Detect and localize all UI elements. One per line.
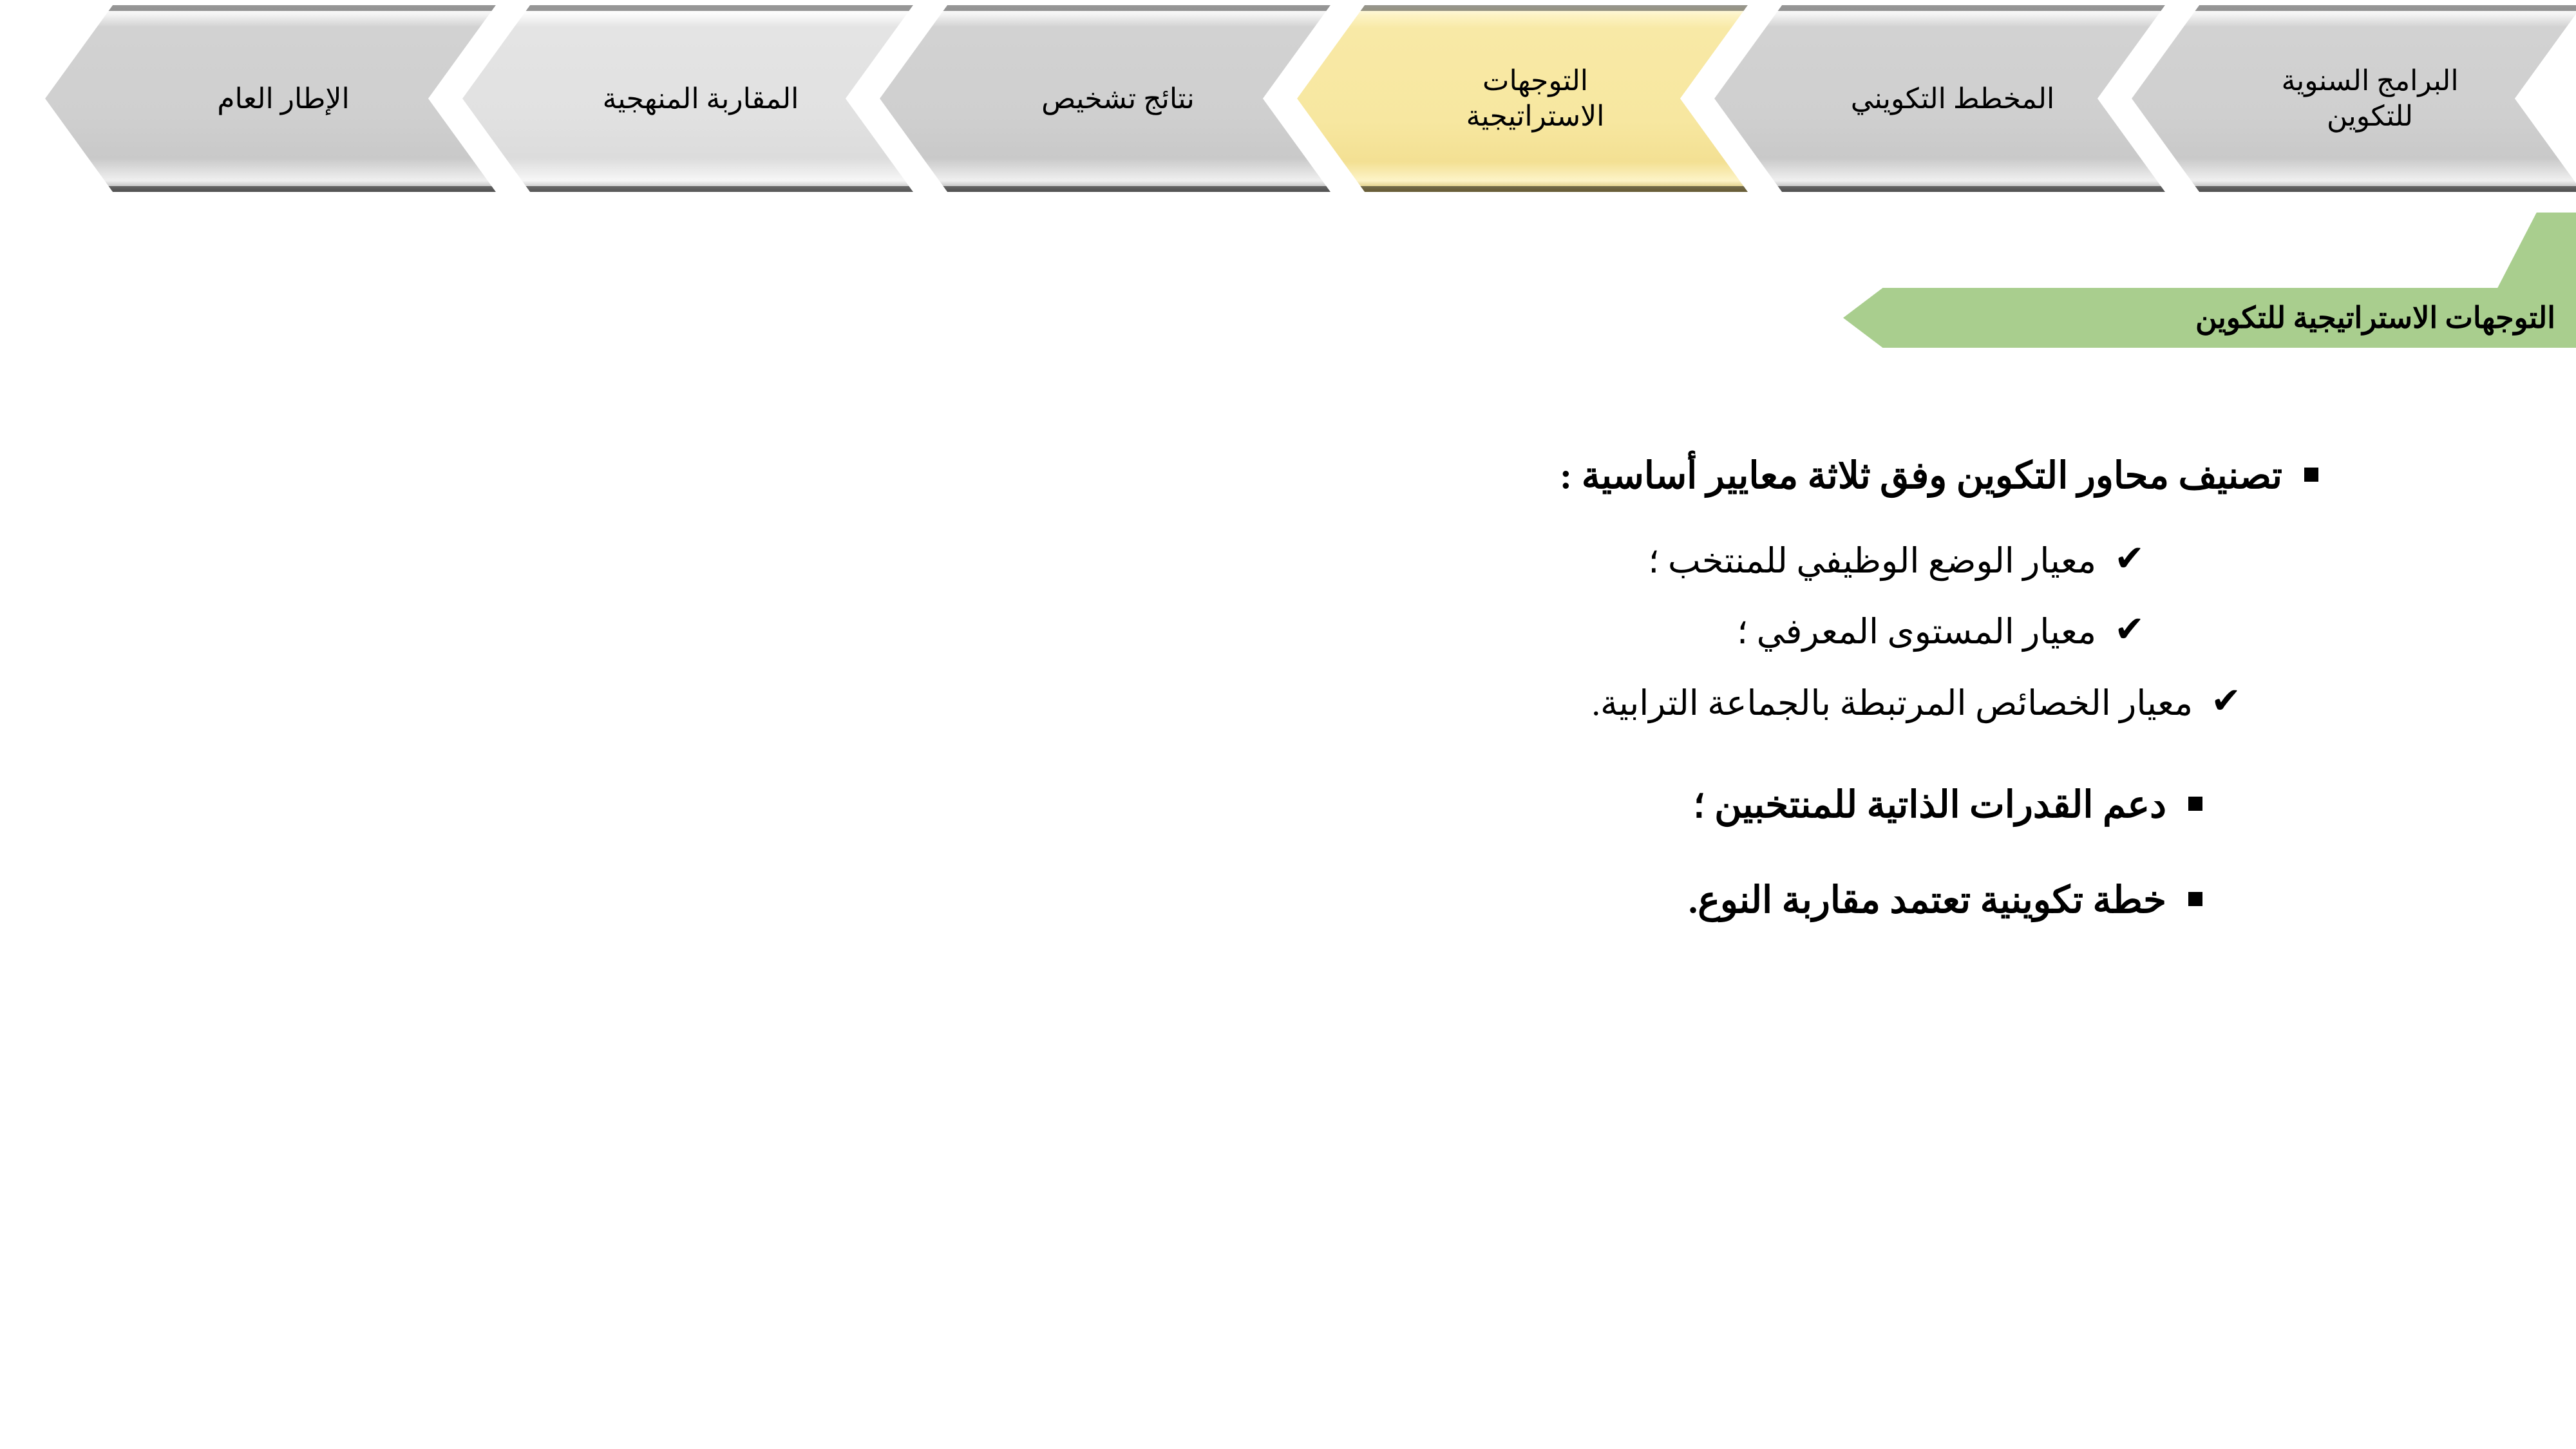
sub-bullet-group: ✔ معيار الوضع الوظيفي للمنتخب ؛ ✔ معيار … bbox=[258, 538, 2318, 726]
bullet-item-2: دعم القدرات الذاتية للمنتخبين ؛ bbox=[258, 780, 2318, 830]
square-bullet-icon bbox=[2188, 892, 2202, 906]
sub-bullet-item-3: ✔ معيار الخصائص المرتبطة بالجماعة التراب… bbox=[258, 681, 2318, 726]
sub-bullet-item-1: ✔ معيار الوضع الوظيفي للمنتخب ؛ bbox=[258, 538, 2318, 583]
spacer bbox=[258, 752, 2318, 780]
spacer bbox=[258, 518, 2318, 528]
chevron-step-1[interactable]: البرامج السنوية للتكوين bbox=[2132, 5, 2576, 192]
check-mark-icon: ✔ bbox=[2114, 541, 2145, 577]
chevron-step-4-label: نتائج تشخيص bbox=[1041, 81, 1195, 117]
ribbon-band: التوجهات الاستراتيجية للتكوين bbox=[1843, 288, 2576, 348]
process-chevron-bar: البرامج السنوية للتكوين المخطط التكويني … bbox=[0, 0, 2576, 206]
bullet-item-2-text: دعم القدرات الذاتية للمنتخبين ؛ bbox=[1693, 780, 2166, 830]
square-bullet-icon bbox=[2188, 797, 2202, 811]
chevron-step-6[interactable]: الإطار العام bbox=[45, 5, 496, 192]
bullet-item-1: تصنيف محاور التكوين وفق ثلاثة معايير أسا… bbox=[258, 451, 2318, 501]
chevron-step-5[interactable]: المقاربة المنهجية bbox=[462, 5, 913, 192]
chevron-step-6-label: الإطار العام bbox=[217, 81, 350, 117]
check-mark-icon: ✔ bbox=[2114, 612, 2145, 648]
chevron-step-3-label: التوجهات الاستراتيجية bbox=[1466, 63, 1605, 134]
slide-canvas: البرامج السنوية للتكوين المخطط التكويني … bbox=[0, 0, 2576, 1449]
check-mark-icon: ✔ bbox=[2211, 683, 2241, 719]
sub-bullet-item-2-text: معيار المستوى المعرفي ؛ bbox=[1737, 609, 2096, 654]
chevron-step-1-label: البرامج السنوية للتكوين bbox=[2281, 63, 2458, 134]
page-title: التوجهات الاستراتيجية للتكوين bbox=[2195, 303, 2555, 333]
chevron-step-5-label: المقاربة المنهجية bbox=[603, 81, 799, 117]
bullet-item-3: خطة تكوينية تعتمد مقاربة النوع. bbox=[258, 875, 2318, 925]
spacer bbox=[258, 847, 2318, 875]
chevron-step-2-label: المخطط التكويني bbox=[1851, 81, 2054, 117]
sub-bullet-item-1-text: معيار الوضع الوظيفي للمنتخب ؛ bbox=[1648, 538, 2096, 583]
chevron-step-3-active[interactable]: التوجهات الاستراتيجية bbox=[1297, 5, 1748, 192]
sub-bullet-item-3-text: معيار الخصائص المرتبطة بالجماعة الترابية… bbox=[1591, 681, 2193, 726]
chevron-step-4[interactable]: نتائج تشخيص bbox=[880, 5, 1331, 192]
title-ribbon: التوجهات الاستراتيجية للتكوين bbox=[1843, 213, 2576, 348]
bullet-item-3-text: خطة تكوينية تعتمد مقاربة النوع. bbox=[1689, 875, 2166, 925]
sub-bullet-item-2: ✔ معيار المستوى المعرفي ؛ bbox=[258, 609, 2318, 654]
bullet-item-1-text: تصنيف محاور التكوين وفق ثلاثة معايير أسا… bbox=[1560, 451, 2282, 501]
square-bullet-icon bbox=[2304, 468, 2318, 482]
slide-body: تصنيف محاور التكوين وفق ثلاثة معايير أسا… bbox=[258, 451, 2318, 942]
chevron-step-2[interactable]: المخطط التكويني bbox=[1714, 5, 2165, 192]
